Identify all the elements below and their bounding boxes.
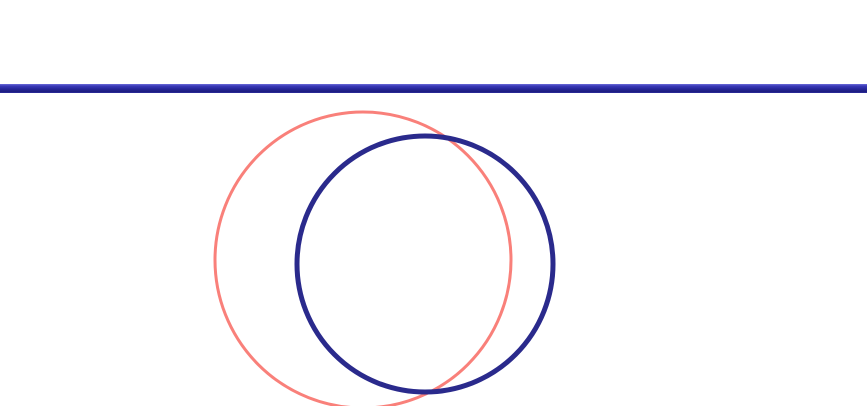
specification-circle-overlap-arc: [215, 112, 511, 406]
venn-diagram: [0, 0, 867, 406]
slide: [0, 0, 867, 406]
program-circle: [297, 136, 553, 392]
venn-diagram-svg: [0, 0, 867, 406]
